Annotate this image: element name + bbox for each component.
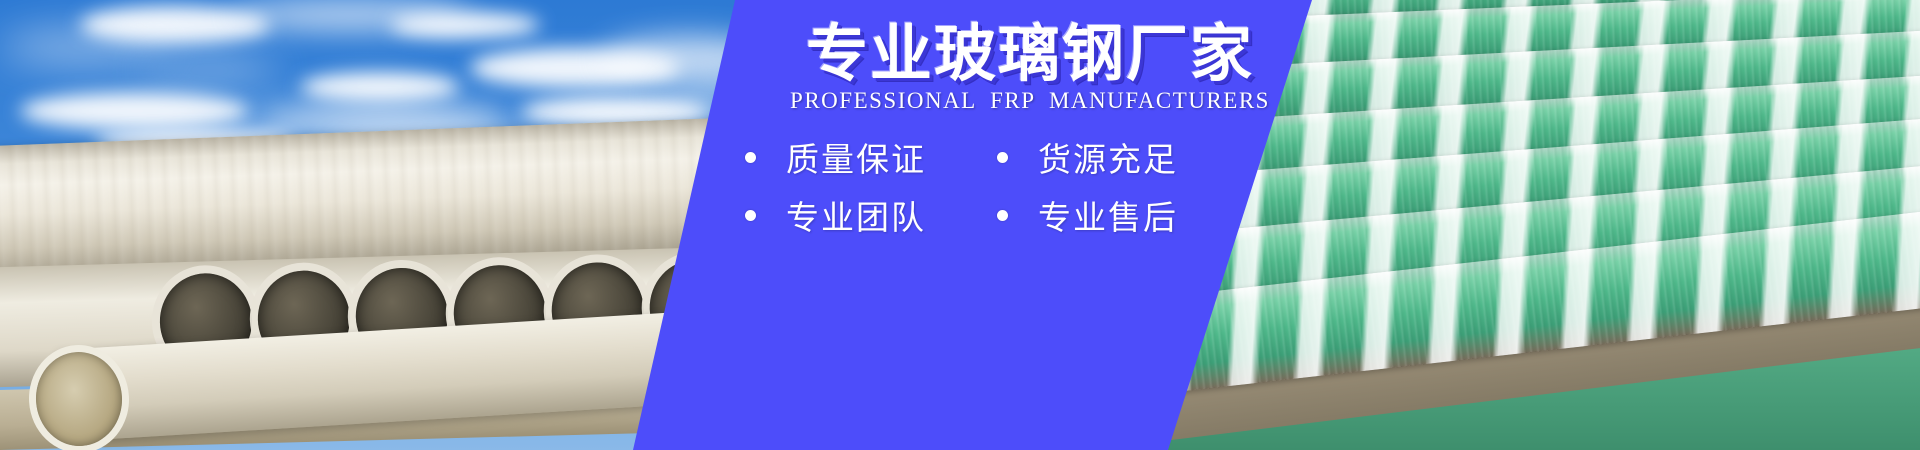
cloud-shape — [300, 72, 460, 102]
promotional-banner: 专业玻璃钢厂家 PROFESSIONAL FRP MANUFACTURERS 质… — [0, 0, 1920, 450]
feature-label: 质量保证 — [786, 133, 926, 181]
feature-label: 货源充足 — [1038, 133, 1178, 181]
feature-item-quality-guarantee: 质量保证 — [745, 133, 997, 181]
feature-item-professional-team: 专业团队 — [745, 191, 997, 239]
cloud-shape — [140, 58, 280, 82]
page-subtitle: PROFESSIONAL FRP MANUFACTURERS — [760, 88, 1300, 114]
feature-row: 专业团队 专业售后 — [745, 186, 1265, 244]
bullet-dot-icon — [997, 210, 1008, 221]
cloud-shape — [0, 30, 170, 64]
feature-item-after-sales: 专业售后 — [997, 191, 1249, 239]
bullet-dot-icon — [997, 152, 1008, 163]
bullet-dot-icon — [745, 210, 756, 221]
feature-label: 专业团队 — [786, 191, 926, 239]
page-title: 专业玻璃钢厂家 — [770, 22, 1290, 87]
feature-item-ample-supply: 货源充足 — [997, 133, 1249, 181]
feature-label: 专业售后 — [1038, 191, 1178, 239]
bullet-dot-icon — [745, 152, 756, 163]
feature-row: 质量保证 货源充足 — [745, 128, 1265, 186]
feature-list: 质量保证 货源充足 专业团队 专业售后 — [745, 128, 1265, 244]
cloud-shape — [390, 12, 540, 38]
cloud-shape — [20, 92, 250, 130]
